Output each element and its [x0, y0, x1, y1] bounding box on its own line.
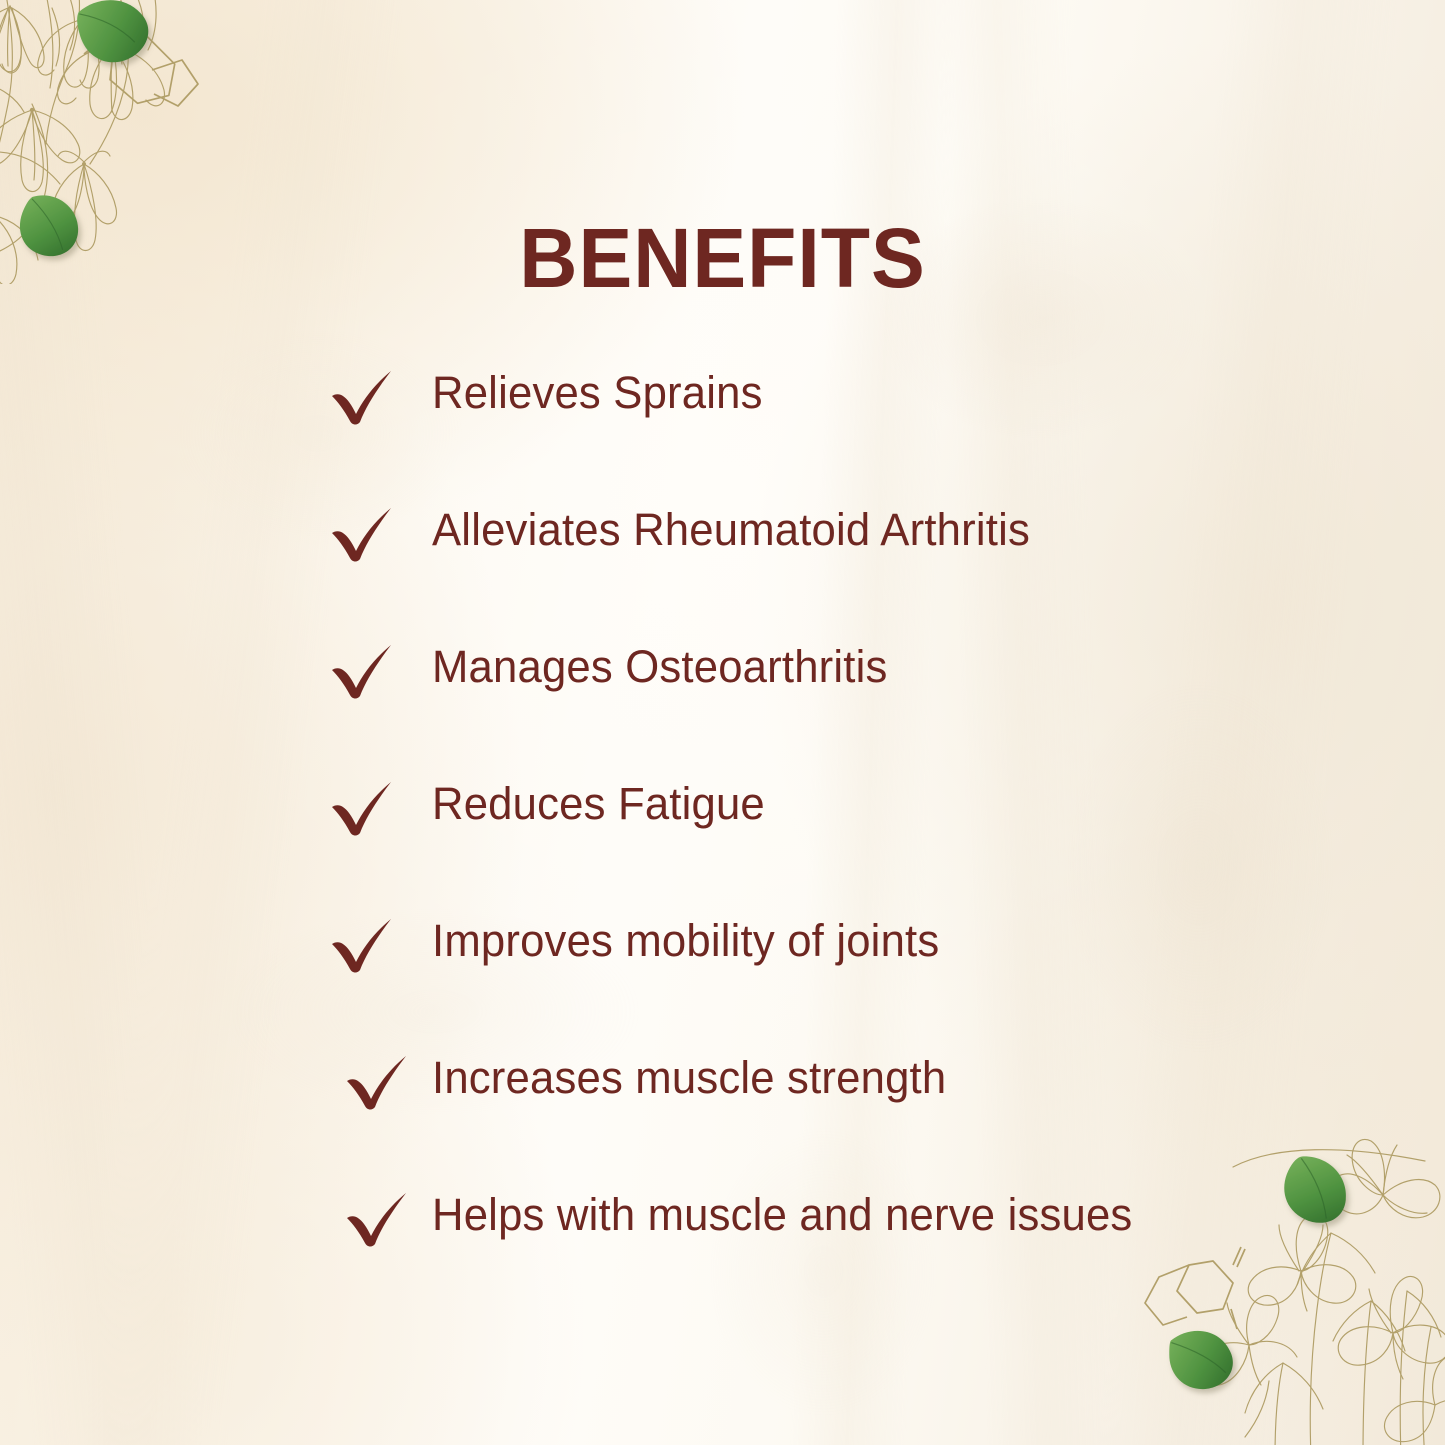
list-item: Reduces Fatigue	[0, 773, 1445, 910]
list-item-label: Relieves Sprains	[432, 362, 763, 424]
check-icon	[345, 1053, 409, 1113]
list-item: Relieves Sprains	[0, 362, 1445, 499]
list-item-label: Reduces Fatigue	[432, 773, 765, 835]
page-title: BENEFITS	[29, 216, 1416, 300]
list-item: Alleviates Rheumatoid Arthritis	[0, 499, 1445, 636]
list-item-label: Increases muscle strength	[432, 1047, 946, 1109]
list-item: Helps with muscle and nerve issues	[0, 1184, 1445, 1321]
check-icon	[330, 642, 394, 702]
check-icon	[345, 1190, 409, 1250]
list-item: Manages Osteoarthritis	[0, 636, 1445, 773]
check-icon	[330, 368, 394, 428]
check-icon	[330, 916, 394, 976]
check-icon	[330, 779, 394, 839]
list-item: Improves mobility of joints	[0, 910, 1445, 1047]
benefits-list: Relieves Sprains Alleviates Rheumatoid A…	[0, 362, 1445, 1321]
list-item-label: Helps with muscle and nerve issues	[432, 1184, 1132, 1246]
benefits-infographic: BENEFITS Relieves Sprains Alleviates Rhe…	[0, 0, 1445, 1445]
list-item-label: Manages Osteoarthritis	[432, 636, 888, 698]
check-icon	[330, 505, 394, 565]
list-item: Increases muscle strength	[0, 1047, 1445, 1184]
list-item-label: Improves mobility of joints	[432, 910, 939, 972]
list-item-label: Alleviates Rheumatoid Arthritis	[432, 499, 1030, 561]
